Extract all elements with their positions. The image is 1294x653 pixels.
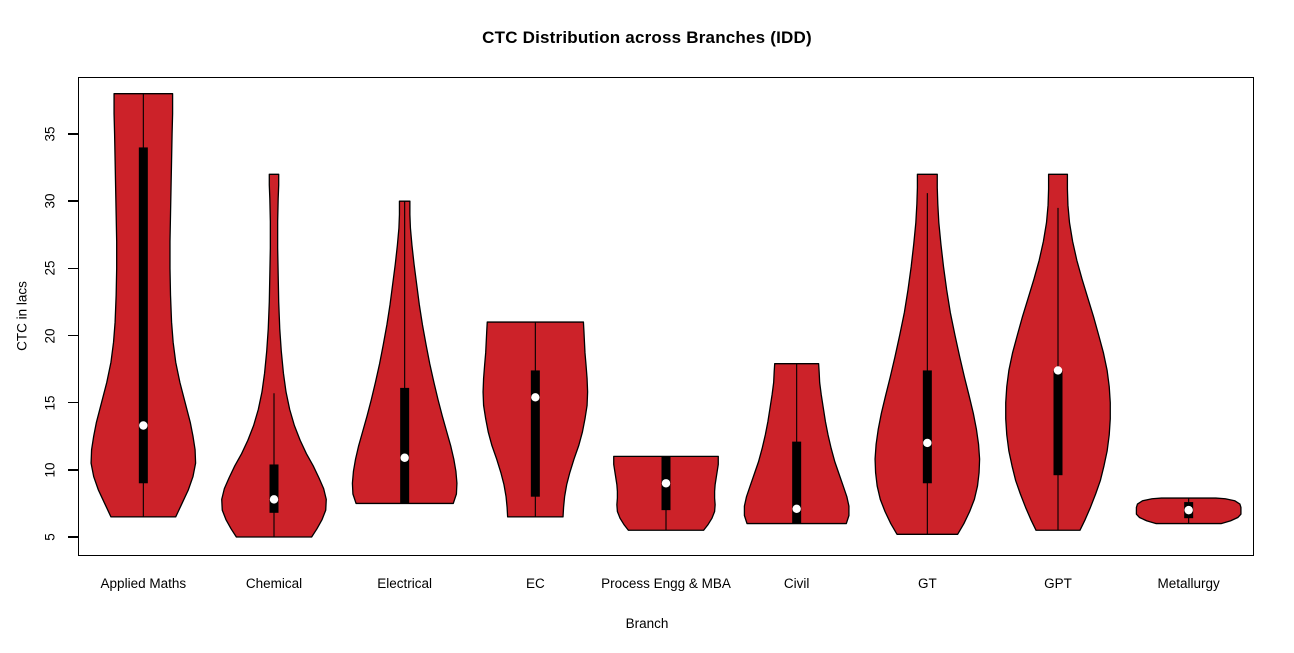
x-tick-label-applied-maths: Applied Maths	[101, 576, 187, 591]
y-tick-label: 10	[43, 462, 58, 477]
chart-title: CTC Distribution across Branches (IDD)	[0, 28, 1294, 48]
x-tick-label-civil: Civil	[784, 576, 810, 591]
y-tick-mark	[68, 402, 78, 404]
x-tick-label-chemical: Chemical	[246, 576, 302, 591]
y-tick-mark	[68, 133, 78, 135]
plot-area	[78, 77, 1254, 556]
y-tick-mark	[68, 536, 78, 538]
y-tick-label: 20	[43, 328, 58, 343]
y-tick-mark	[68, 469, 78, 471]
y-tick-label: 30	[43, 194, 58, 209]
y-tick-mark	[68, 200, 78, 202]
y-axis-label: CTC in lacs	[15, 281, 30, 351]
x-tick-label-electrical: Electrical	[377, 576, 432, 591]
violin-plot-figure: CTC Distribution across Branches (IDD) C…	[0, 0, 1294, 653]
y-tick-label: 15	[43, 395, 58, 410]
y-tick-mark	[68, 268, 78, 270]
y-tick-label: 5	[43, 533, 58, 541]
x-tick-label-metallurgy: Metallurgy	[1158, 576, 1220, 591]
x-tick-label-gpt: GPT	[1044, 576, 1072, 591]
x-tick-label-gt: GT	[918, 576, 937, 591]
x-tick-label-ec: EC	[526, 576, 545, 591]
x-tick-label-process-engg-mba: Process Engg & MBA	[601, 576, 731, 591]
y-tick-mark	[68, 335, 78, 337]
y-tick-label: 35	[43, 126, 58, 141]
y-tick-label: 25	[43, 261, 58, 276]
x-axis-label: Branch	[0, 616, 1294, 631]
